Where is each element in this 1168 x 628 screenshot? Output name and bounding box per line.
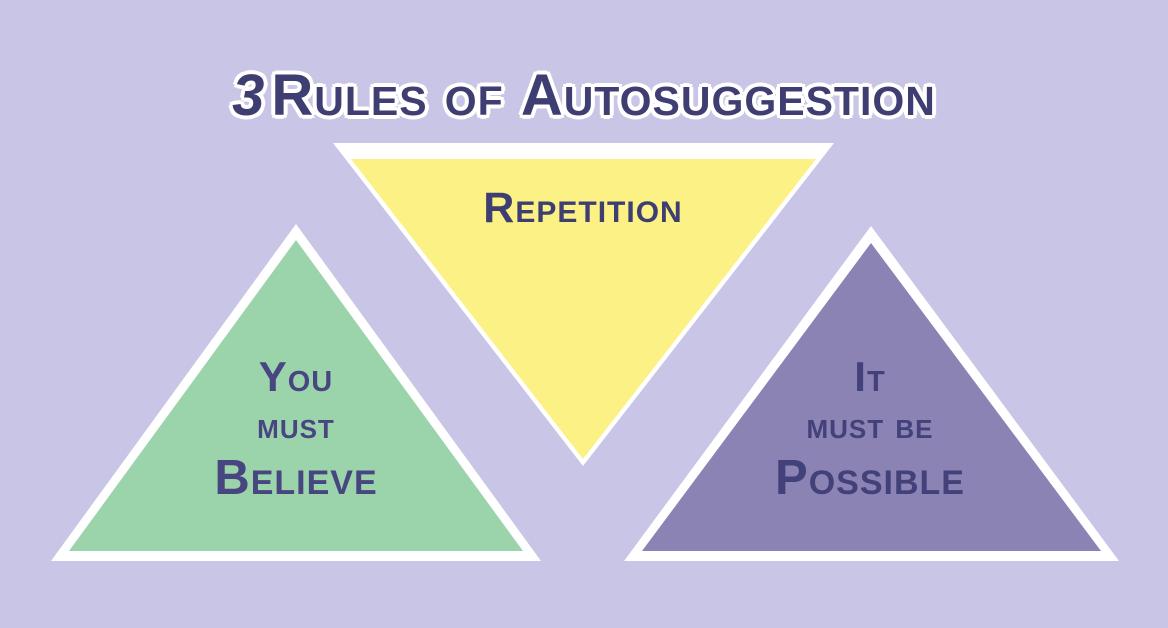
infographic-canvas: 3Rules of Autosuggestion You must Believ… — [0, 0, 1168, 628]
triangles-stage — [0, 0, 1168, 628]
